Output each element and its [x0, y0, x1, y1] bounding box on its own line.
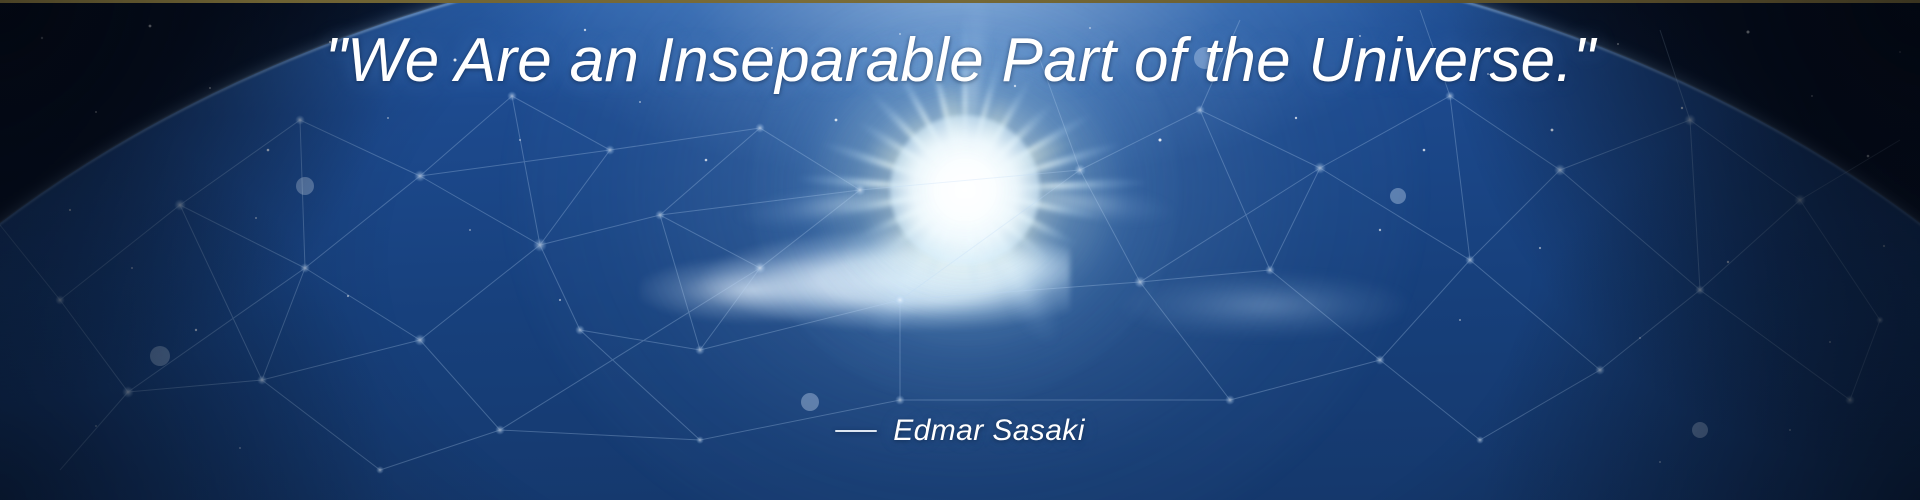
quote-text: "We Are an Inseparable Part of the Unive…	[0, 26, 1920, 95]
quote-content: "We Are an Inseparable Part of the Unive…	[0, 0, 1920, 500]
attribution: Edmar Sasaki	[0, 414, 1920, 448]
attribution-name: Edmar Sasaki	[893, 414, 1085, 448]
attribution-dash-icon	[835, 430, 877, 432]
quote-hero-banner: "We Are an Inseparable Part of the Unive…	[0, 0, 1920, 500]
